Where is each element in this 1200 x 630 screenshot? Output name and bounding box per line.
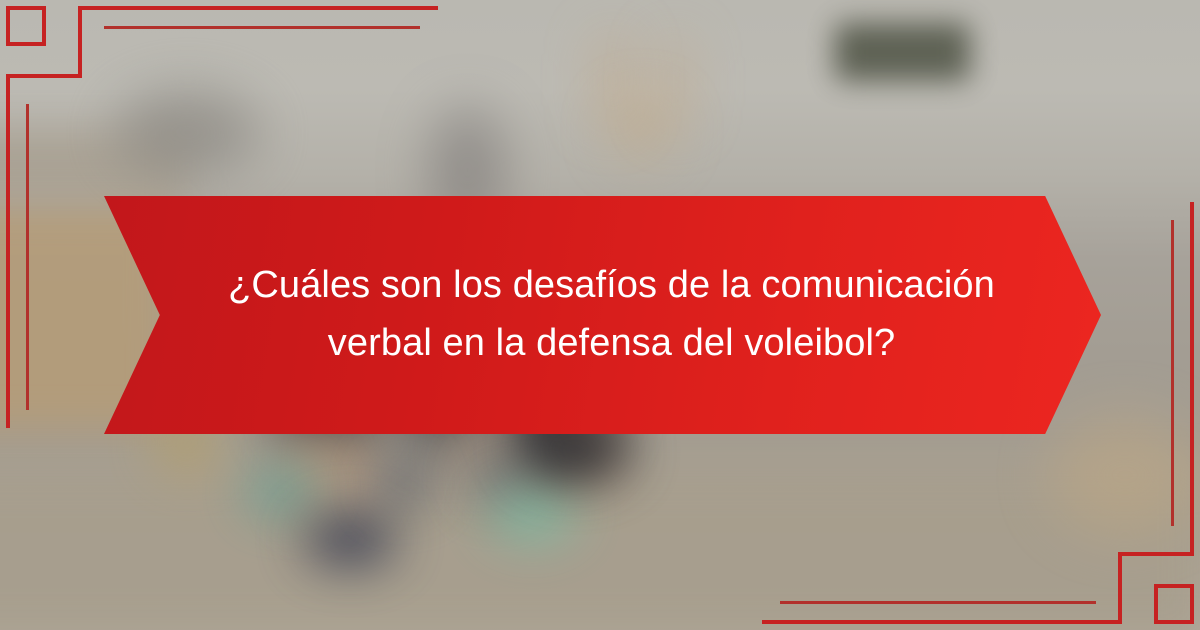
ornament-line-horizontal [78, 6, 438, 10]
wall-marking-shape-3 [612, 100, 672, 158]
headline-text: ¿Cuáles son los desafíos de la comunicac… [193, 257, 1013, 373]
ornament-line-vertical-thin [1171, 220, 1174, 526]
headline-line-2: verbal en la defensa del voleibol? [211, 315, 1013, 373]
headline-line-1: ¿Cuáles son los desafíos de la comunicac… [211, 257, 1013, 315]
ornament-elbow-horizontal [1118, 552, 1194, 556]
wall-unit-shape [835, 23, 970, 81]
shoe-shape-2 [305, 515, 395, 563]
ornament-line-horizontal-thin [104, 26, 420, 29]
ornament-square-icon [1154, 584, 1194, 624]
ornament-line-vertical [1190, 202, 1194, 552]
ornament-line-horizontal-thin [780, 601, 1096, 604]
corner-ornament-bottom-right [1000, 430, 1200, 630]
headline-banner: ¿Cuáles son los desafíos de la comunicac… [104, 196, 1101, 434]
ornament-square-icon [6, 6, 46, 46]
ornament-line-horizontal [762, 620, 1122, 624]
leg-shape-2 [330, 420, 366, 520]
social-card: ¿Cuáles son los desafíos de la comunicac… [0, 0, 1200, 630]
shoe-shape-1 [248, 470, 318, 512]
corner-ornament-top-left [0, 0, 200, 200]
ornament-line-vertical-thin [26, 104, 29, 410]
ornament-elbow-horizontal [6, 74, 82, 78]
shoe-shape-3 [378, 462, 430, 502]
ornament-elbow-vertical [78, 6, 82, 78]
shoe-shape-5 [490, 490, 575, 538]
ornament-line-vertical [6, 78, 10, 428]
ornament-elbow-vertical [1118, 552, 1122, 624]
